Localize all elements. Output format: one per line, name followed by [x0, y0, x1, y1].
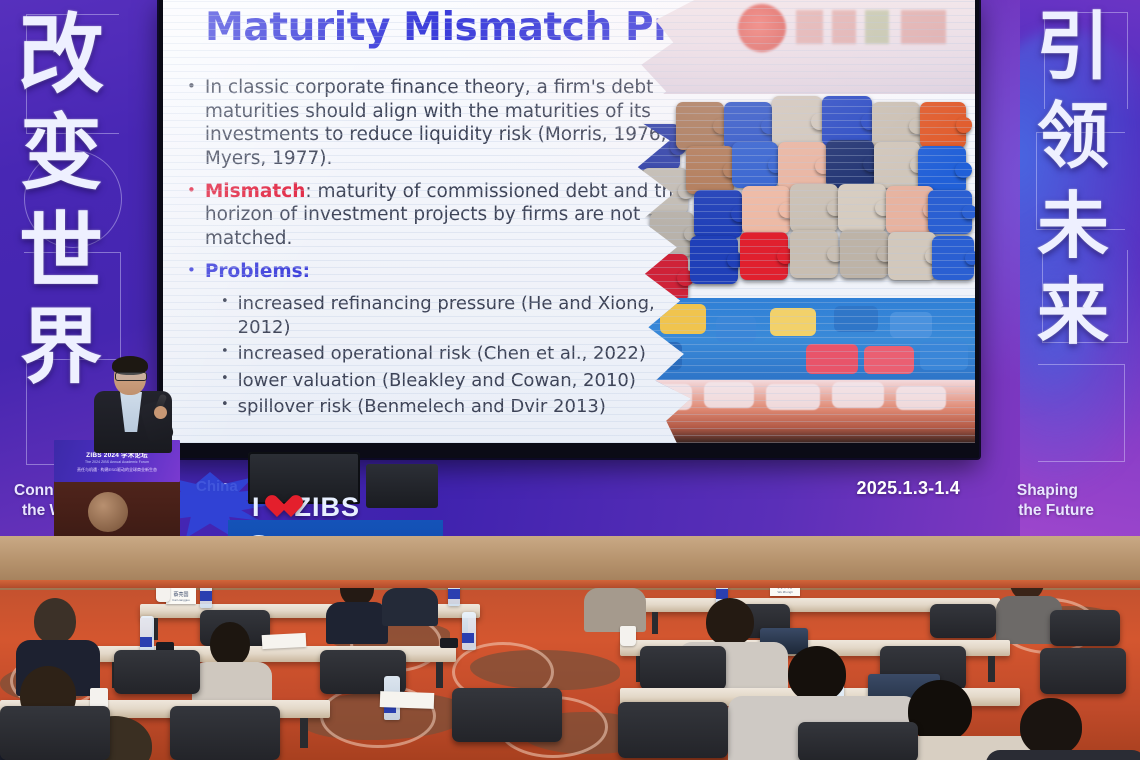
bullet-text-wrap: Problems: — [205, 260, 310, 284]
name-card-2: 吴中力 Wu Zhongli — [770, 588, 800, 596]
heart-icon — [265, 495, 291, 519]
name-card-2-en: Wu Zhongli — [777, 590, 792, 594]
mobile-phone — [440, 638, 458, 648]
lectern-sign-line3: 责任与机遇 · 构建ESG驱动的全球商业新生态 — [77, 467, 157, 473]
left-banner-char-3: 世 — [19, 210, 103, 294]
event-date: 2025.1.3-1.4 — [857, 478, 960, 499]
i-love-zibs-sign: I ZIBS — [252, 490, 432, 524]
chair — [0, 706, 110, 760]
bullet-item: • Problems: — [187, 260, 687, 284]
screen-surface: Maturity Mismatch Problem • In classic c… — [163, 0, 975, 443]
bullet-item: • Mismatch: maturity of commissioned deb… — [187, 180, 687, 251]
chair — [798, 722, 918, 760]
sub-bullet-marker: • — [221, 342, 229, 365]
audience-area: 蔡亮国 Cai Liangguo 吴中力 Wu Zhongli — [0, 588, 1140, 760]
sub-bullet-text: lower valuation (Bleakley and Cowan, 201… — [238, 369, 636, 392]
name-card: 蔡亮国 Cai Liangguo — [166, 588, 196, 604]
chair — [1040, 648, 1126, 694]
bullet-lead: Mismatch — [205, 181, 306, 202]
sub-bullet-marker: • — [221, 395, 229, 418]
bullet-text: In classic corporate finance theory, a f… — [205, 76, 687, 171]
name-card-en: Cai Liangguo — [172, 598, 190, 602]
glasses-icon — [115, 372, 147, 381]
water-bottle — [200, 588, 212, 608]
document — [262, 633, 307, 649]
chair — [1050, 610, 1120, 646]
sub-bullet-item: • lower valuation (Bleakley and Cowan, 2… — [221, 369, 687, 392]
sub-bullet-list: • increased refinancing pressure (He and… — [221, 292, 687, 418]
conference-photo: 改 变 世 界 引 领 未 来 Maturity Mismatch Proble… — [0, 0, 1140, 760]
right-banner-char-4: 来 — [1037, 276, 1109, 348]
slide-body: • In classic corporate finance theory, a… — [187, 76, 687, 421]
sub-bullet-marker: • — [221, 292, 229, 339]
chair — [114, 650, 200, 694]
sub-bullet-text: spillover risk (Benmelech and Dvir 2013) — [238, 395, 606, 418]
bullet-item: • In classic corporate finance theory, a… — [187, 76, 687, 171]
chair — [618, 702, 728, 758]
right-banner-char-2: 领 — [1037, 100, 1109, 172]
sub-bullet-item: • increased refinancing pressure (He and… — [221, 292, 687, 339]
puzzle-scatter-layer — [620, 298, 975, 390]
chair — [640, 646, 726, 690]
puzzle-piece-grid — [620, 80, 975, 330]
sub-bullet-item: • spillover risk (Benmelech and Dvir 201… — [221, 395, 687, 418]
bullet-marker: • — [187, 260, 196, 284]
sub-bullet-text: increased operational risk (Chen et al.,… — [238, 342, 646, 365]
watermark-logo-text — [796, 10, 946, 44]
sub-bullet-item: • increased operational risk (Chen et al… — [221, 342, 687, 365]
right-banner-char-1: 引 — [1036, 10, 1110, 84]
letter-i: I — [252, 492, 261, 523]
chair — [452, 688, 562, 742]
water-bottle — [462, 612, 476, 650]
presentation-slide: Maturity Mismatch Problem • In classic c… — [163, 0, 975, 443]
tagline-right-line1: Shaping — [1017, 482, 1078, 501]
right-banner-char-3: 未 — [1037, 190, 1109, 262]
right-vertical-banner: 引 领 未 来 — [1020, 0, 1140, 536]
water-bottle — [140, 616, 154, 654]
tagline-right-line2: the Future — [1018, 502, 1094, 521]
podium-emblem — [88, 492, 128, 532]
jigsaw-puzzle-photo — [620, 0, 975, 443]
projection-screen: Maturity Mismatch Problem • In classic c… — [159, 0, 979, 458]
chair — [930, 604, 996, 638]
bullet-marker: • — [187, 76, 196, 171]
letters-zibs: ZIBS — [295, 492, 361, 523]
sub-bullet-text: increased refinancing pressure (He and X… — [238, 292, 687, 339]
left-banner-char-1: 改 — [18, 12, 104, 98]
name-card-cn: 蔡亮国 — [173, 591, 188, 598]
bullet-text: : — [303, 261, 310, 282]
water-bottle — [448, 588, 460, 606]
bullet-text-wrap: Mismatch: maturity of commissioned debt … — [205, 180, 687, 251]
document — [380, 691, 435, 709]
presenter-hand — [154, 406, 167, 419]
lectern-sign-line2: The 2024 ZIBS Annual Academic Forum — [85, 460, 149, 464]
watermark-logo-icon — [738, 4, 786, 52]
lectern: ZIBS 2024 学术论坛 The 2024 ZIBS Annual Acad… — [54, 440, 180, 550]
chair — [170, 706, 280, 760]
bullet-marker: • — [187, 180, 196, 251]
left-banner-char-2: 变 — [20, 112, 102, 194]
sub-bullet-marker: • — [221, 369, 229, 392]
paper-cup — [156, 588, 170, 602]
left-banner-char-4: 界 — [20, 306, 102, 388]
paper-cup — [620, 626, 636, 646]
presenter — [92, 358, 174, 450]
bullet-lead: Problems — [205, 261, 303, 282]
